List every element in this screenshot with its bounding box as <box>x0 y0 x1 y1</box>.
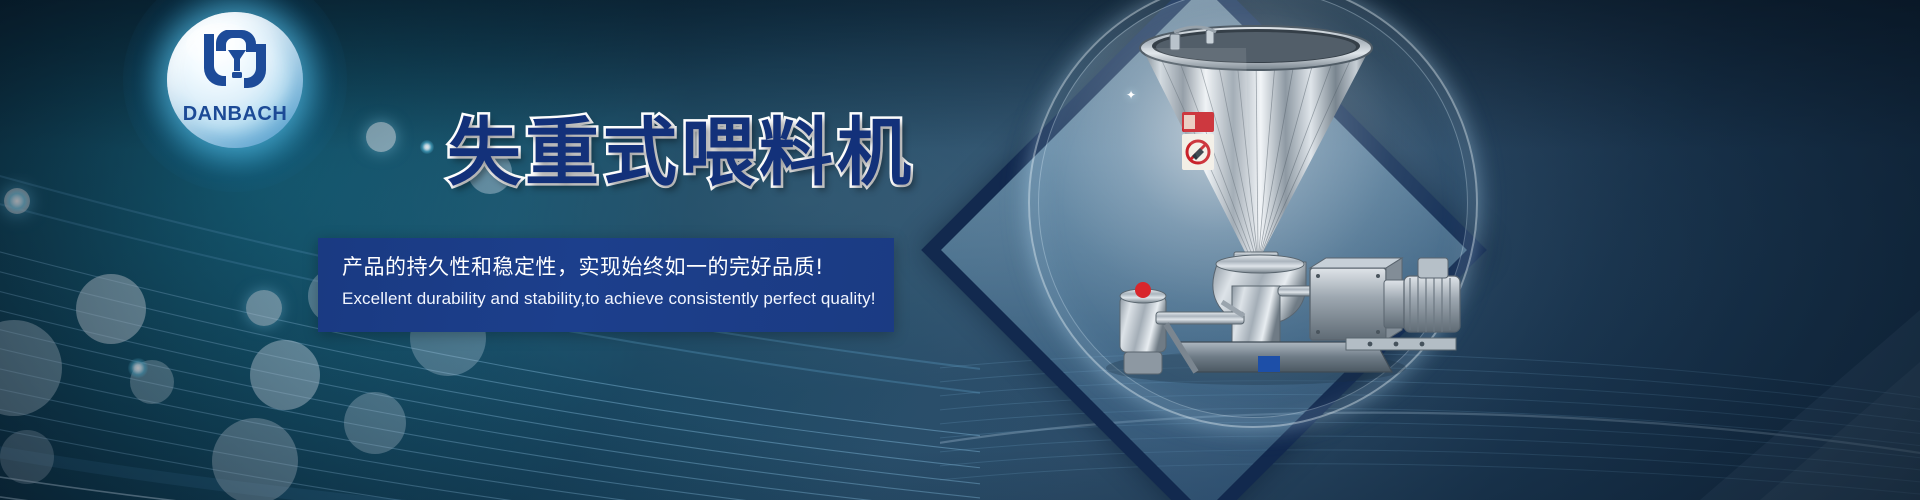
danbach-monogram-icon <box>167 28 303 90</box>
product-banner: DANBACH 失重式喂料机 产品的持久性和稳定性，实现始终如一的完好品质! E… <box>0 0 1920 500</box>
sparkle: ✦ <box>1330 66 1343 84</box>
bokeh-circle <box>130 360 174 404</box>
bokeh-circle <box>344 392 406 454</box>
bokeh-circle <box>246 290 282 326</box>
bokeh-circle <box>4 188 30 214</box>
page-title: 失重式喂料机 <box>447 116 915 190</box>
loss-in-weight-feeder-icon <box>1046 0 1466 406</box>
glass-sphere-glow <box>1038 0 1468 418</box>
tagline-english: Excellent durability and stability,to ac… <box>342 289 870 309</box>
glow-dot <box>6 190 28 212</box>
brand-logo[interactable]: DANBACH <box>167 12 303 148</box>
sparkle: ✦ <box>1370 300 1380 314</box>
brand-name: DANBACH <box>167 103 303 126</box>
bokeh-circle <box>0 320 62 416</box>
diamond-frame <box>921 0 1487 500</box>
tagline-chinese: 产品的持久性和稳定性，实现始终如一的完好品质! <box>342 254 870 280</box>
bokeh-circle <box>212 418 298 500</box>
glow-dot <box>420 140 434 154</box>
product-showcase: ✦ ✦ ✦ <box>900 0 1720 500</box>
bokeh-circle <box>0 430 54 484</box>
bokeh-circle <box>76 274 146 344</box>
tagline-panel: 产品的持久性和稳定性，实现始终如一的完好品质! Excellent durabi… <box>318 238 894 332</box>
glass-sphere-ring <box>1028 0 1478 428</box>
flowing-line-fan-right <box>940 250 1920 500</box>
bokeh-circle <box>366 122 396 152</box>
bokeh-circle <box>250 340 320 410</box>
glow-dot <box>128 358 148 378</box>
sparkle: ✦ <box>1126 88 1136 102</box>
